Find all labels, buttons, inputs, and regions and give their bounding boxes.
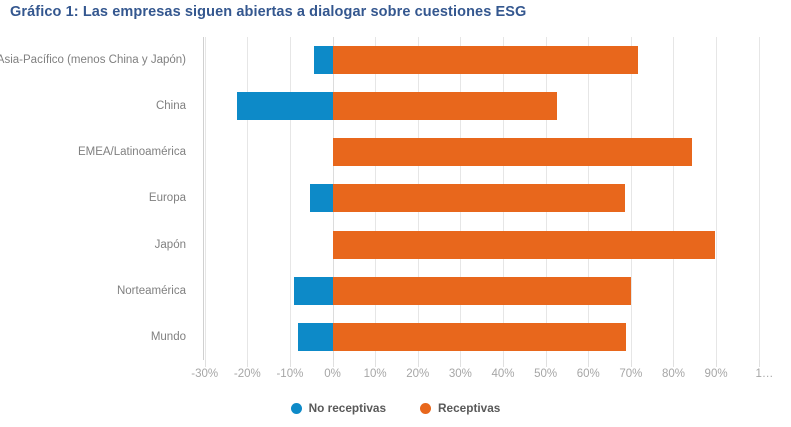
bar-positive[interactable]	[333, 323, 626, 351]
tick-mark	[290, 360, 291, 367]
tick-mark	[716, 360, 717, 367]
category-label: EMEA/Latinoamérica	[78, 129, 186, 175]
tick-mark	[588, 360, 589, 367]
bar-positive[interactable]	[333, 46, 639, 74]
bar-positive[interactable]	[333, 138, 692, 166]
gridline	[759, 37, 760, 360]
category-label: Asia-Pacífico (menos China y Japón)	[0, 37, 186, 83]
x-tick-label: -30%	[191, 368, 218, 380]
tick-mark	[205, 360, 206, 367]
tick-mark	[631, 360, 632, 367]
bar-group	[205, 175, 759, 221]
tick-mark	[418, 360, 419, 367]
category-axis: Asia-Pacífico (menos China y Japón)China…	[0, 37, 196, 360]
bar-group	[205, 222, 759, 268]
x-tick-label: 10%	[364, 368, 387, 380]
category-label: China	[156, 83, 186, 129]
x-tick-label: 20%	[406, 368, 429, 380]
legend-label: No receptivas	[309, 401, 386, 415]
x-tick-label: 90%	[705, 368, 728, 380]
x-tick-label: 1…	[755, 368, 773, 380]
plot-area	[205, 37, 759, 360]
x-tick-label: 30%	[449, 368, 472, 380]
bar-negative[interactable]	[314, 46, 332, 74]
tick-mark	[460, 360, 461, 367]
bar-group	[205, 268, 759, 314]
bar-positive[interactable]	[333, 184, 625, 212]
circle-marker-icon	[420, 403, 431, 414]
x-tick-label: -20%	[234, 368, 261, 380]
bar-positive[interactable]	[333, 231, 715, 259]
tick-mark	[759, 360, 760, 367]
bar-negative[interactable]	[310, 184, 333, 212]
x-tick-label: 80%	[662, 368, 685, 380]
bar-group	[205, 314, 759, 360]
x-tick-label: 70%	[619, 368, 642, 380]
tick-mark	[375, 360, 376, 367]
tick-mark	[333, 360, 334, 367]
category-label: Mundo	[151, 314, 186, 360]
bar-positive[interactable]	[333, 277, 631, 305]
chart-legend: No receptivasReceptivas	[0, 396, 791, 420]
x-axis: -30%-20%-10%0%10%20%30%40%50%60%70%80%90…	[205, 360, 765, 382]
bar-negative[interactable]	[237, 92, 332, 120]
tick-mark	[546, 360, 547, 367]
category-label: Japón	[155, 222, 186, 268]
category-label: Norteamérica	[117, 268, 186, 314]
legend-item[interactable]: Receptivas	[420, 401, 500, 415]
bar-group	[205, 37, 759, 83]
legend-item[interactable]: No receptivas	[291, 401, 386, 415]
tick-mark	[503, 360, 504, 367]
bar-group	[205, 129, 759, 175]
x-tick-label: 40%	[491, 368, 514, 380]
x-tick-label: -10%	[276, 368, 303, 380]
circle-marker-icon	[291, 403, 302, 414]
category-label: Europa	[149, 175, 186, 221]
bar-negative[interactable]	[294, 277, 333, 305]
x-tick-label: 50%	[534, 368, 557, 380]
bar-group	[205, 83, 759, 129]
tick-mark	[673, 360, 674, 367]
x-tick-label: 0%	[324, 368, 341, 380]
bar-positive[interactable]	[333, 92, 557, 120]
page-title: Gráfico 1: Las empresas siguen abiertas …	[10, 4, 526, 20]
x-tick-label: 60%	[577, 368, 600, 380]
legend-label: Receptivas	[438, 401, 500, 415]
bar-negative[interactable]	[298, 323, 333, 351]
tick-mark	[247, 360, 248, 367]
